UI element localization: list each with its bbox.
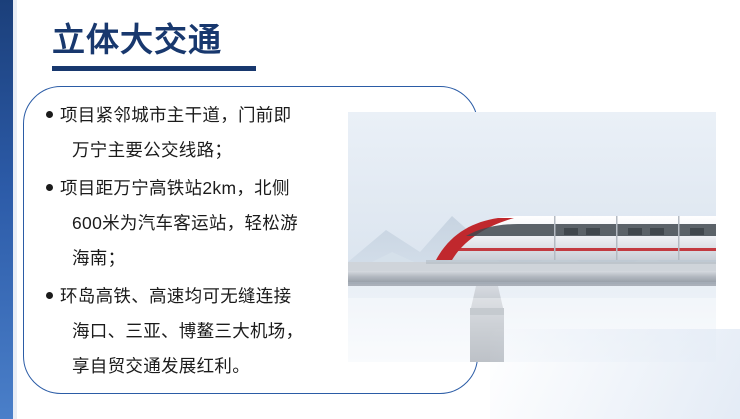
bullet-line: 享自贸交通发展红利。 [60, 349, 346, 384]
slide-root: 立体大交通 项目紧邻城市主干道，门前即 万宁主要公交线路； 项目距万宁高铁站2k… [0, 0, 740, 419]
bullet-line: 600米为汽车客运站，轻松游 [60, 206, 346, 241]
list-item: 项目距万宁高铁站2km，北侧 600米为汽车客运站，轻松游 海南； [46, 171, 346, 276]
bullet-line: 项目距万宁高铁站2km，北侧 [60, 178, 290, 198]
bullet-line: 项目紧邻城市主干道，门前即 [60, 105, 291, 125]
bullet-dot-icon [46, 292, 53, 299]
bullet-dot-icon [46, 184, 53, 191]
bullet-line: 海南； [60, 241, 346, 276]
page-title: 立体大交通 [52, 22, 222, 58]
left-accent-bar [0, 0, 13, 419]
bullet-line: 万宁主要公交线路； [60, 133, 346, 168]
bullet-dot-icon [46, 111, 53, 118]
bullet-list: 项目紧邻城市主干道，门前即 万宁主要公交线路； 项目距万宁高铁站2km，北侧 6… [46, 98, 346, 387]
left-accent-bar-inner [13, 0, 17, 419]
title-underline [52, 66, 256, 71]
train-photo [348, 112, 716, 362]
list-item: 环岛高铁、高速均可无缝连接 海口、三亚、博鳌三大机场， 享自贸交通发展红利。 [46, 279, 346, 384]
list-item: 项目紧邻城市主干道，门前即 万宁主要公交线路； [46, 98, 346, 168]
bullet-line: 海口、三亚、博鳌三大机场， [60, 314, 346, 349]
bullet-line: 环岛高铁、高速均可无缝连接 [60, 286, 291, 306]
